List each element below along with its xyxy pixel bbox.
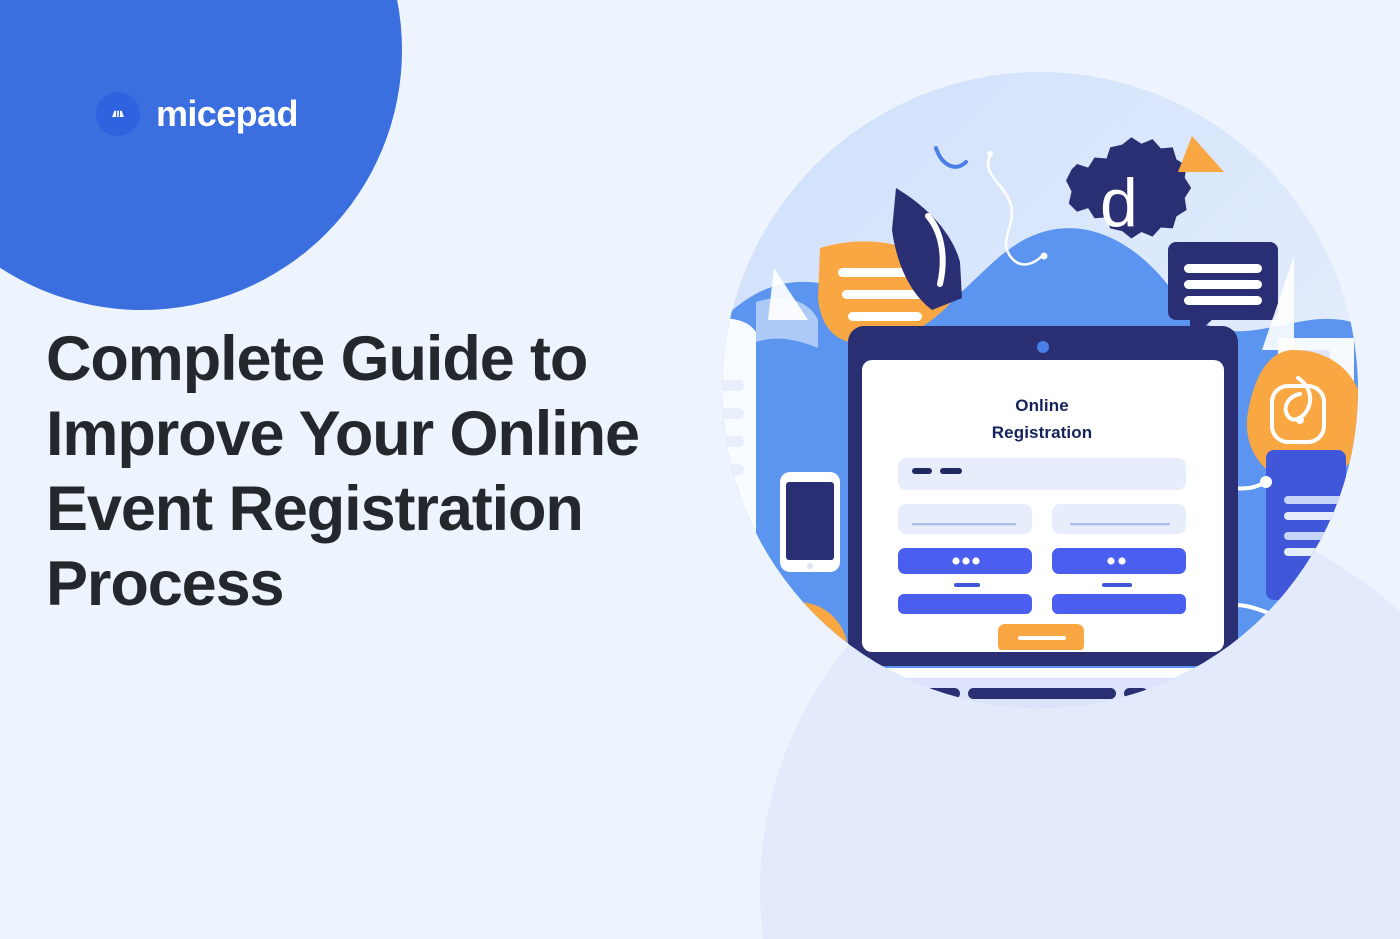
online-registration-laptop-illustration: d xyxy=(690,20,1390,820)
bottom-document xyxy=(1220,720,1390,810)
svg-text:d: d xyxy=(1100,165,1138,241)
micepad-mark-icon xyxy=(96,92,140,136)
right-option-button xyxy=(1052,548,1186,574)
logo[interactable]: micepad xyxy=(96,92,298,136)
logo-text: micepad xyxy=(156,96,298,132)
left-option-button xyxy=(898,548,1032,574)
hero-banner: micepad Complete Guide to Improve Your O… xyxy=(0,0,1400,939)
brand-circle-backdrop xyxy=(0,0,402,310)
smartphone xyxy=(780,472,840,572)
full-width-field xyxy=(898,458,1186,490)
submit-button xyxy=(998,624,1084,650)
right-secondary-bar xyxy=(1052,594,1186,614)
blue-card xyxy=(1266,450,1354,600)
laptop-screen-content: Online Registration xyxy=(856,340,1228,650)
left-field xyxy=(898,504,1032,534)
field-hint-marks xyxy=(954,583,1132,587)
right-field xyxy=(1052,504,1186,534)
page-title: Complete Guide to Improve Your Online Ev… xyxy=(46,322,736,622)
fingerprint-circle-icon xyxy=(748,602,848,702)
left-secondary-bar xyxy=(898,594,1032,614)
